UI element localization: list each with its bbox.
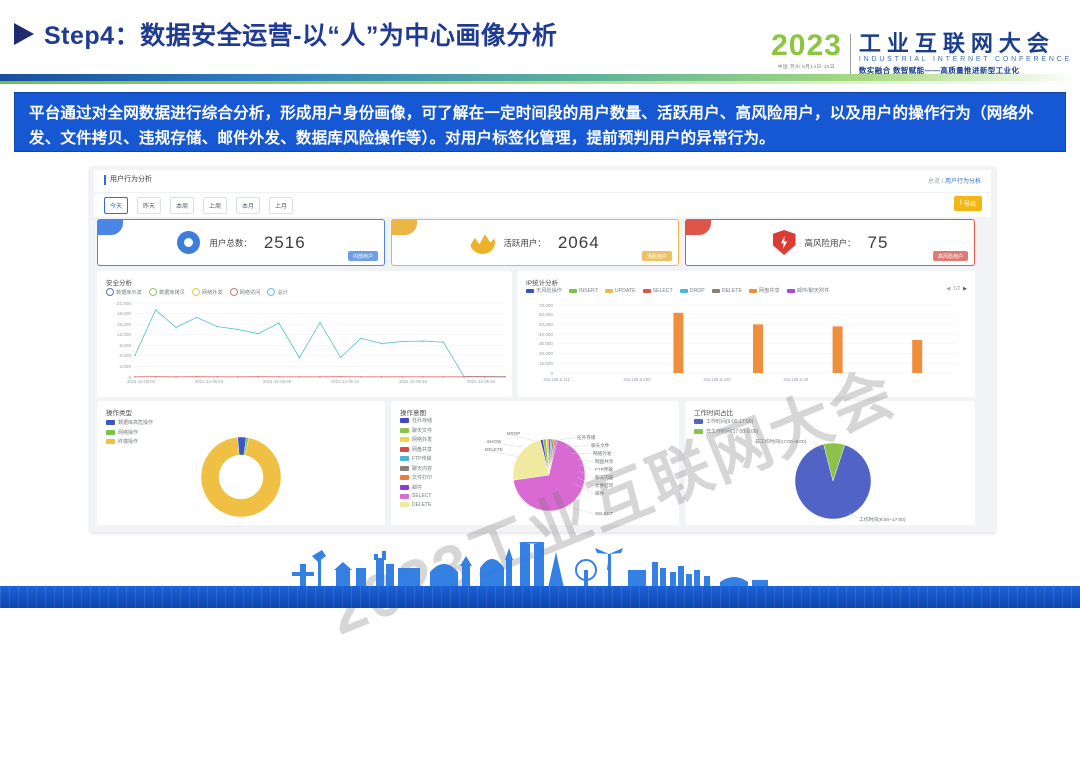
axis-tick-label: 70,000 — [521, 303, 553, 308]
breadcrumb: 总览 / 用户行为分析 — [928, 176, 981, 185]
kpi-label: 高风险用户： — [805, 237, 856, 249]
line-chart-title: 安全分析 — [106, 277, 132, 287]
legend-swatch — [106, 439, 115, 444]
time-tab-this-month[interactable]: 本月 — [236, 197, 260, 214]
legend-swatch — [267, 288, 275, 296]
wave-icon — [470, 230, 495, 255]
axis-tick-label: 3,000 — [101, 364, 131, 369]
legend-label: 终端操作 — [118, 438, 138, 445]
legend-label: 聊天内容 — [412, 465, 432, 472]
axis-tick-label: 10,000 — [521, 361, 553, 366]
pie-callout-label: 工作时间(9:00~17:00) — [859, 516, 906, 523]
legend-label: SELECT — [653, 288, 673, 294]
legend-label: UPDATE — [615, 288, 636, 294]
kpi-badge[interactable]: 内部用户 — [348, 251, 378, 261]
legend-swatch — [400, 447, 409, 452]
shield-bolt-icon — [772, 230, 797, 255]
dashboard-title: 用户行为分析 — [104, 175, 152, 185]
legend-label: 工作时间(9:00-17:00) — [706, 418, 753, 425]
axis-tick-label: 2021-12-06 04 — [195, 379, 223, 384]
legend-item[interactable]: 聊天文件 — [400, 427, 432, 434]
breadcrumb-separator: / — [942, 179, 944, 185]
axis-tick-label: 2021-12-06 00 — [127, 379, 155, 384]
pie-callout-label: 网盘共享 — [595, 458, 614, 465]
legend-swatch — [106, 430, 115, 435]
pie-callout-label: DROP — [507, 431, 520, 436]
pie-chart-plot: 任外存储聊天文件网络外发网盘共享FTP传输聊天内容文件打印邮件SELECTDRO… — [473, 419, 663, 523]
legend-label: 聊天文件 — [412, 427, 432, 434]
pager-next-icon[interactable]: ▶ — [963, 286, 967, 292]
bar-chart-pager[interactable]: ◀ 1/2 ▶ — [946, 286, 967, 292]
summary-banner-text: 平台通过对全网数据进行综合分析，形成用户身份画像，可了解在一定时间段的用户数量、… — [29, 101, 1051, 151]
kpi-value: 2064 — [558, 233, 600, 253]
legend-label: SELECT — [412, 493, 431, 499]
time-tab-yesterday[interactable]: 昨天 — [137, 197, 161, 214]
kpi-value: 75 — [868, 233, 889, 253]
legend-item[interactable]: 网络操作 — [106, 429, 153, 436]
legend-label: 网络访问 — [240, 289, 261, 296]
legend-label: 无风险操作 — [536, 287, 562, 294]
axis-tick-label: 9,000 — [101, 343, 131, 348]
kpi-card-body: 用户总数： 2516 — [98, 220, 384, 265]
line-chart-plot — [97, 299, 512, 385]
pie-chart-title: 操作意图 — [400, 407, 426, 417]
axis-tick-label: 2021-12-06 12 — [331, 379, 359, 384]
pie-callout-label: 聊天内容 — [595, 474, 614, 481]
legend-label: 总计 — [277, 289, 287, 296]
kpi-card-body: 高风险用户： 75 — [686, 220, 974, 265]
kpi-label: 用户总数： — [209, 237, 252, 249]
time-tab-last-week[interactable]: 上周 — [203, 197, 227, 214]
kpi-card-body: 活跃用户： 2064 — [392, 220, 678, 265]
download-icon: ⭳ — [960, 198, 962, 209]
pie-callout-label: 网络外发 — [593, 450, 612, 457]
legend-label: 数据库外发 — [116, 289, 142, 296]
logo-divider — [850, 34, 851, 74]
legend-item[interactable]: 总计 — [267, 288, 287, 296]
time-filter-bar: 今天 昨天 本周 上周 本月 上月 ⭳ 导出 — [94, 192, 991, 217]
work-chart-title: 工作时间占比 — [694, 407, 733, 417]
logo-year: 2023 — [771, 32, 842, 60]
header-stripe-primary — [0, 74, 1080, 81]
axis-tick-label: 6,000 — [101, 353, 131, 358]
legend-swatch — [149, 288, 157, 296]
axis-tick-label: 20,000 — [521, 351, 553, 356]
axis-tick-label: 40,000 — [521, 332, 553, 337]
legend-swatch — [230, 288, 238, 296]
bar-chart-title: IP统计分析 — [526, 277, 558, 287]
dashboard-screenshot: 用户行为分析 总览 / 用户行为分析 今天 昨天 本周 上周 本月 上月 ⭳ 导… — [90, 167, 995, 532]
legend-swatch — [749, 289, 757, 293]
legend-item[interactable]: 网盘共享 — [749, 287, 780, 294]
legend-item[interactable]: 网盘共享 — [400, 446, 432, 453]
pie-callout-label: 任外存储 — [577, 434, 596, 441]
footer-ground-grid — [0, 586, 1080, 608]
legend-swatch — [400, 418, 409, 423]
legend-label: DELETE — [412, 502, 431, 508]
legend-label: 网盘共享 — [759, 287, 780, 294]
bar-chart-legend: 无风险操作INSERTUPDATESELECTDROPDELETE网盘共享邮件/… — [526, 287, 946, 294]
legend-swatch — [569, 289, 577, 293]
legend-item[interactable]: DELETE — [400, 502, 432, 508]
legend-swatch — [106, 288, 114, 296]
legend-item[interactable]: DELETE — [712, 288, 742, 294]
kpi-card-active-users[interactable]: 活跃用户： 2064 活跃用户 — [391, 219, 679, 266]
panel-operation-type: 操作类型 数据库高危操作网络操作终端操作 — [97, 401, 385, 525]
axis-tick-label: 2021-12-06 08 — [263, 379, 291, 384]
legend-swatch — [787, 289, 795, 293]
legend-label: 网络外发 — [202, 289, 223, 296]
time-tab-last-month[interactable]: 上月 — [269, 197, 293, 214]
axis-tick-label: 21,000 — [101, 301, 131, 306]
legend-item[interactable]: 数据库拷贝 — [149, 288, 185, 296]
export-button-label: 导出 — [964, 199, 976, 208]
axis-tick-label: 60,000 — [521, 312, 553, 317]
axis-tick-label: 192.168.6.180 — [623, 377, 650, 382]
axis-tick-label: 192.168.6.39 — [783, 377, 808, 382]
kpi-badge[interactable]: 高风险用户 — [933, 251, 968, 261]
legend-label: INSERT — [579, 288, 598, 294]
kpi-label: 活跃用户： — [503, 237, 546, 249]
axis-tick-label: 0 — [521, 371, 553, 376]
legend-swatch — [400, 456, 409, 461]
legend-item[interactable]: 工作时间(9:00-17:00) — [694, 418, 758, 425]
legend-label: 网盘共享 — [412, 446, 432, 453]
pie-callout-label: 文件打印 — [595, 482, 614, 489]
pie-callout-label: 邮件 — [595, 490, 605, 497]
legend-item[interactable]: UPDATE — [605, 288, 636, 294]
legend-label: 网络操作 — [118, 429, 138, 436]
legend-item[interactable]: 聊天内容 — [400, 465, 432, 472]
logo-cn-name: 工业互联网大会 — [859, 32, 1072, 55]
legend-swatch — [400, 494, 409, 499]
legend-item[interactable]: DROP — [680, 288, 705, 294]
legend-swatch — [694, 429, 703, 434]
export-button[interactable]: ⭳ 导出 — [954, 196, 982, 211]
legend-label: DELETE — [722, 288, 742, 294]
pie-callout-label: 聊天文件 — [591, 442, 610, 449]
legend-swatch — [680, 289, 688, 293]
legend-label: 任外存储 — [412, 417, 432, 424]
legend-item[interactable]: 文件打印 — [400, 474, 432, 481]
legend-label: 邮件/聊天附件 — [797, 287, 830, 294]
legend-item[interactable]: 任外存储 — [400, 417, 432, 424]
legend-swatch — [106, 420, 115, 425]
slide-footer — [0, 546, 1080, 608]
legend-item[interactable]: SELECT — [643, 288, 673, 294]
page-title-row: Step4：数据安全运营-以“人”为中心画像分析 — [14, 16, 557, 52]
summary-banner: 平台通过对全网数据进行综合分析，形成用户身份画像，可了解在一定时间段的用户数量、… — [14, 92, 1066, 152]
legend-swatch — [400, 428, 409, 433]
breadcrumb-current: 用户行为分析 — [945, 179, 981, 185]
axis-tick-label: 192.168.6.200 — [703, 377, 730, 382]
legend-item[interactable]: FTP传输 — [400, 455, 432, 462]
legend-item[interactable]: 网络外发 — [400, 436, 432, 443]
axis-tick-label: 18,000 — [101, 311, 131, 316]
legend-label: 文件打印 — [412, 474, 432, 481]
panel-work-time: 工作时间占比 工作时间(9:00-17:00)非工作时间(17:00-9:00)… — [685, 401, 975, 525]
legend-label: DROP — [690, 288, 705, 294]
work-chart-plot: 非工作时间(17:00~9:00)工作时间(9:00~17:00) — [737, 431, 937, 523]
legend-item[interactable]: 邮件 — [400, 484, 432, 491]
legend-swatch — [400, 437, 409, 442]
kpi-badge[interactable]: 活跃用户 — [642, 251, 672, 261]
page-title: Step4：数据安全运营-以“人”为中心画像分析 — [44, 16, 557, 52]
legend-swatch — [526, 289, 534, 293]
kpi-card-high-risk-users[interactable]: 高风险用户： 75 高风险用户 — [685, 219, 975, 266]
legend-item[interactable]: SELECT — [400, 493, 432, 499]
logo-name-block: 工业互联网大会 INDUSTRIAL INTERNET CONFERENCE 数… — [859, 32, 1072, 76]
legend-swatch — [400, 475, 409, 480]
axis-tick-label: 30,000 — [521, 341, 553, 346]
bar-chart-plot — [517, 301, 975, 383]
legend-item[interactable]: 数据库外发 — [106, 288, 142, 296]
legend-swatch — [400, 485, 409, 490]
legend-item[interactable]: 数据库高危操作 — [106, 419, 153, 426]
legend-item[interactable]: INSERT — [569, 288, 598, 294]
time-tab-today[interactable]: 今天 — [104, 197, 128, 214]
legend-swatch — [192, 288, 200, 296]
panel-line-chart: 安全分析 数据库外发数据库拷贝网络外发网络访问总计 21,00018,00015… — [97, 271, 512, 397]
kpi-card-total-users[interactable]: 用户总数： 2516 内部用户 — [97, 219, 385, 266]
header-stripe-secondary — [0, 81, 1080, 84]
time-tab-this-week[interactable]: 本周 — [170, 197, 194, 214]
slide-header: Step4：数据安全运营-以“人”为中心画像分析 2023 中国·苏州 8月14… — [0, 0, 1080, 78]
axis-tick-label: 2021-12-06 20 — [467, 379, 495, 384]
legend-item[interactable]: 终端操作 — [106, 438, 153, 445]
line-chart-legend: 数据库外发数据库拷贝网络外发网络访问总计 — [106, 288, 506, 296]
legend-item[interactable]: 无风险操作 — [526, 287, 562, 294]
logo-en-name: INDUSTRIAL INTERNET CONFERENCE — [859, 56, 1072, 63]
donut-chart-plot — [181, 433, 301, 521]
pie-callout-label: 非工作时间(17:00~9:00) — [755, 438, 807, 445]
axis-tick-label: 192.168.6.111 — [543, 377, 570, 382]
dashboard-titlebar: 用户行为分析 总览 / 用户行为分析 — [94, 170, 991, 192]
legend-item[interactable]: 网络外发 — [192, 288, 223, 296]
legend-label: FTP传输 — [412, 455, 431, 462]
legend-swatch — [605, 289, 613, 293]
legend-item[interactable]: 网络访问 — [230, 288, 261, 296]
pie-chart-legend: 任外存储聊天文件网络外发网盘共享FTP传输聊天内容文件打印邮件SELECTDEL… — [400, 417, 432, 510]
pager-indicator: 1/2 — [953, 286, 960, 292]
axis-tick-label: 12,000 — [101, 332, 131, 337]
pie-callout-label: SELECT — [595, 511, 613, 516]
logo-year-block: 2023 中国·苏州 8月14日-15日 — [771, 32, 850, 70]
pie-callout-label: DELETE — [485, 447, 503, 452]
panel-operation-intent: 操作意图 任外存储聊天文件网络外发网盘共享FTP传输聊天内容文件打印邮件SELE… — [391, 401, 679, 525]
breadcrumb-home[interactable]: 总览 — [928, 179, 940, 185]
pie-callout-label: FTP传输 — [595, 466, 613, 473]
pager-prev-icon[interactable]: ◀ — [946, 286, 950, 292]
panel-bar-chart: IP统计分析 无风险操作INSERTUPDATESELECTDROPDELETE… — [517, 271, 975, 397]
legend-swatch — [400, 502, 409, 507]
legend-label: 网络外发 — [412, 436, 432, 443]
axis-tick-label: 50,000 — [521, 322, 553, 327]
legend-swatch — [400, 466, 409, 471]
legend-label: 数据库高危操作 — [118, 419, 153, 426]
legend-swatch — [694, 419, 703, 424]
donut-chart-legend: 数据库高危操作网络操作终端操作 — [106, 419, 153, 448]
legend-swatch — [643, 289, 651, 293]
axis-tick-label: 2021-12-06 16 — [399, 379, 427, 384]
conference-logo: 2023 中国·苏州 8月14日-15日 工业互联网大会 INDUSTRIAL … — [771, 32, 1072, 76]
triangle-bullet-icon — [14, 23, 34, 45]
legend-label: 数据库拷贝 — [159, 289, 185, 296]
legend-swatch — [712, 289, 720, 293]
kpi-value: 2516 — [264, 233, 306, 253]
legend-item[interactable]: 邮件/聊天附件 — [787, 287, 830, 294]
donut-chart-title: 操作类型 — [106, 407, 132, 417]
pie-callout-label: SHOW — [487, 439, 502, 444]
legend-label: 邮件 — [412, 484, 422, 491]
axis-tick-label: 15,000 — [101, 322, 131, 327]
ring-icon — [176, 230, 201, 255]
city-skyline-illustration — [0, 542, 1080, 588]
logo-year-subtitle: 中国·苏州 8月14日-15日 — [778, 64, 835, 70]
